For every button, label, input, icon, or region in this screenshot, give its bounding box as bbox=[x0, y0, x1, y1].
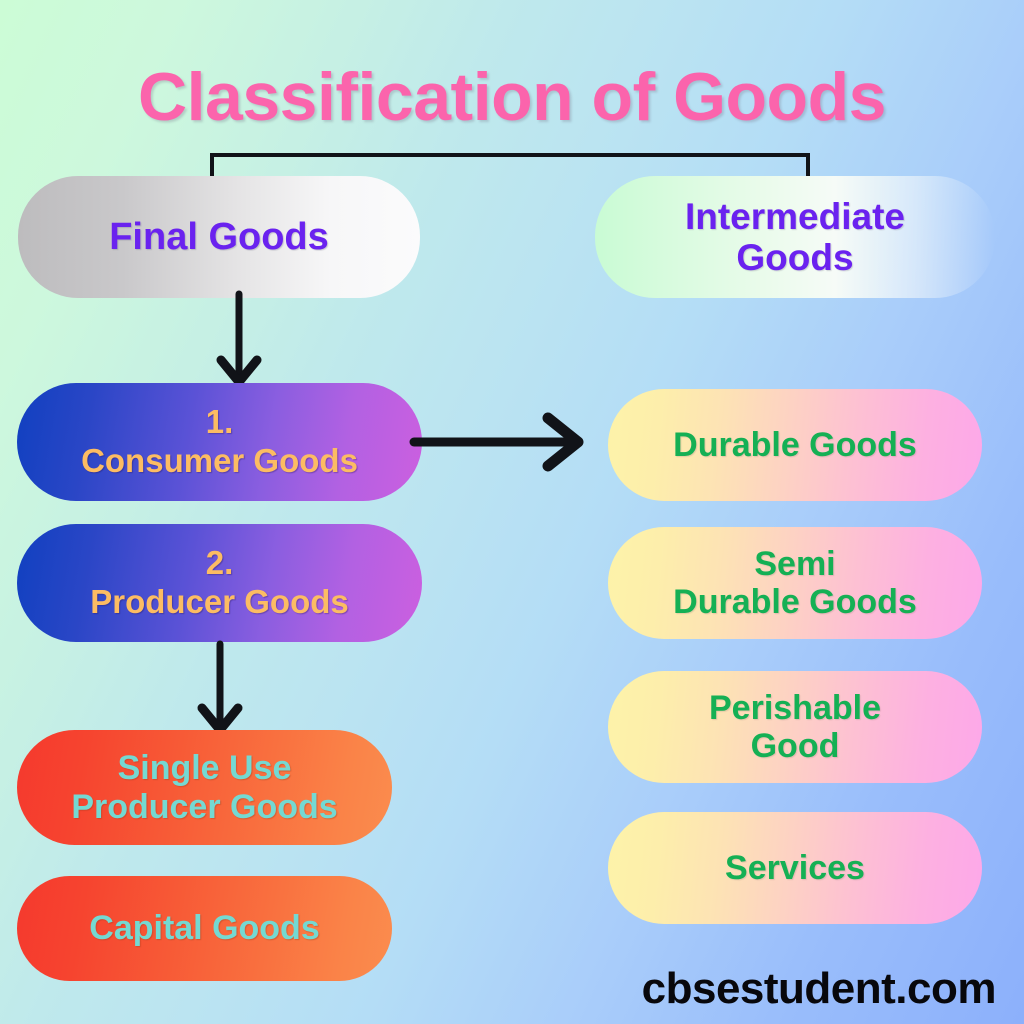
diagram-canvas: Classification of Goods Final Goods Inte… bbox=[0, 0, 1024, 1024]
arrow-consumer-to-durable bbox=[412, 408, 588, 478]
node-perishable-good-label-line2: Good bbox=[751, 727, 840, 765]
node-semi-durable-goods[interactable]: Semi Durable Goods bbox=[608, 527, 982, 639]
node-consumer-goods[interactable]: 1. Consumer Goods bbox=[17, 383, 422, 501]
bracket-horizontal-segment bbox=[210, 153, 810, 157]
node-single-use-producer-goods[interactable]: Single Use Producer Goods bbox=[17, 730, 392, 845]
node-semi-durable-goods-label-line1: Semi bbox=[754, 545, 835, 583]
node-durable-goods-label: Durable Goods bbox=[673, 426, 917, 464]
node-capital-goods[interactable]: Capital Goods bbox=[17, 876, 392, 981]
node-producer-goods[interactable]: 2. Producer Goods bbox=[17, 524, 422, 642]
node-intermediate-goods[interactable]: Intermediate Goods bbox=[595, 176, 995, 298]
site-watermark: cbsestudent.com bbox=[642, 964, 996, 1014]
node-consumer-goods-label: Consumer Goods bbox=[81, 443, 358, 480]
node-perishable-good-label-line1: Perishable bbox=[709, 689, 881, 727]
page-title: Classification of Goods bbox=[0, 58, 1024, 136]
node-services[interactable]: Services bbox=[608, 812, 982, 924]
node-producer-goods-number: 2. bbox=[206, 545, 234, 582]
node-final-goods-label: Final Goods bbox=[109, 216, 329, 259]
node-perishable-good[interactable]: Perishable Good bbox=[608, 671, 982, 783]
node-semi-durable-goods-label-line2: Durable Goods bbox=[673, 583, 917, 621]
node-intermediate-goods-label-line1: Intermediate bbox=[685, 196, 905, 237]
arrow-producer-to-single-use bbox=[192, 642, 252, 738]
node-final-goods[interactable]: Final Goods bbox=[18, 176, 420, 298]
node-single-use-producer-goods-label-line2: Producer Goods bbox=[71, 788, 337, 826]
node-consumer-goods-number: 1. bbox=[206, 404, 234, 441]
node-durable-goods[interactable]: Durable Goods bbox=[608, 389, 982, 501]
node-capital-goods-label: Capital Goods bbox=[89, 909, 319, 947]
node-services-label: Services bbox=[725, 849, 865, 887]
node-producer-goods-label: Producer Goods bbox=[90, 584, 349, 621]
arrow-final-to-consumer bbox=[210, 292, 270, 388]
node-single-use-producer-goods-label-line1: Single Use bbox=[118, 749, 292, 787]
node-intermediate-goods-label-line2: Goods bbox=[685, 237, 905, 278]
